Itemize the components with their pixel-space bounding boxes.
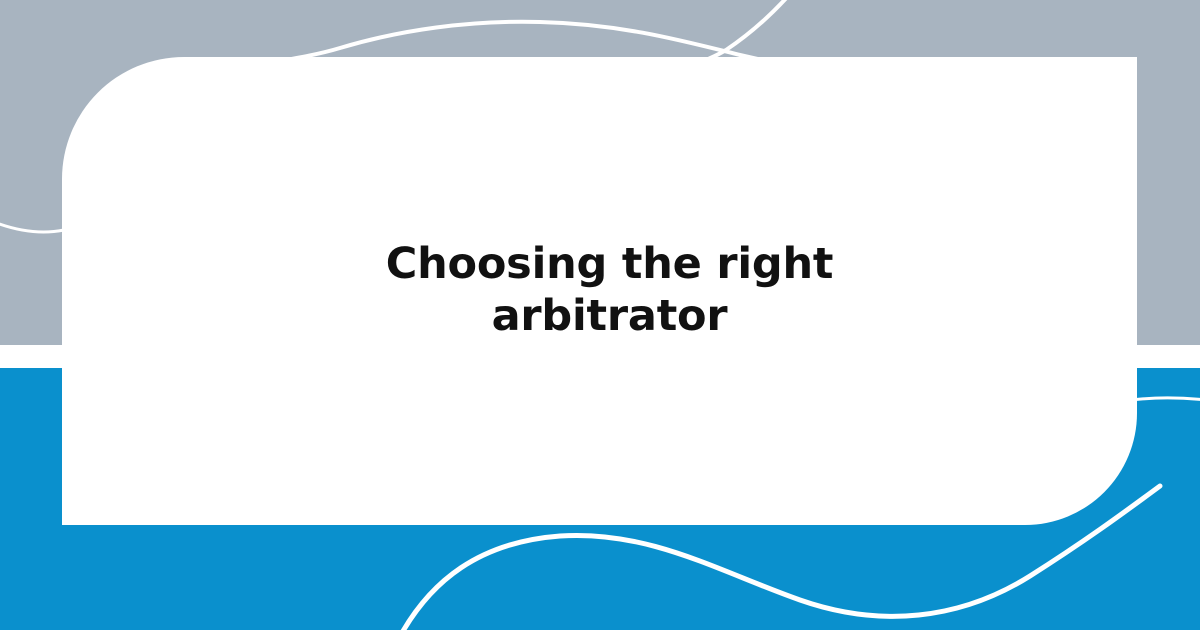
title-container: Choosing the right arbitrator — [375, 239, 845, 342]
content-card: Choosing the right arbitrator — [62, 57, 1137, 525]
social-share-card: Choosing the right arbitrator — [0, 0, 1200, 630]
page-title: Choosing the right arbitrator — [375, 239, 845, 342]
